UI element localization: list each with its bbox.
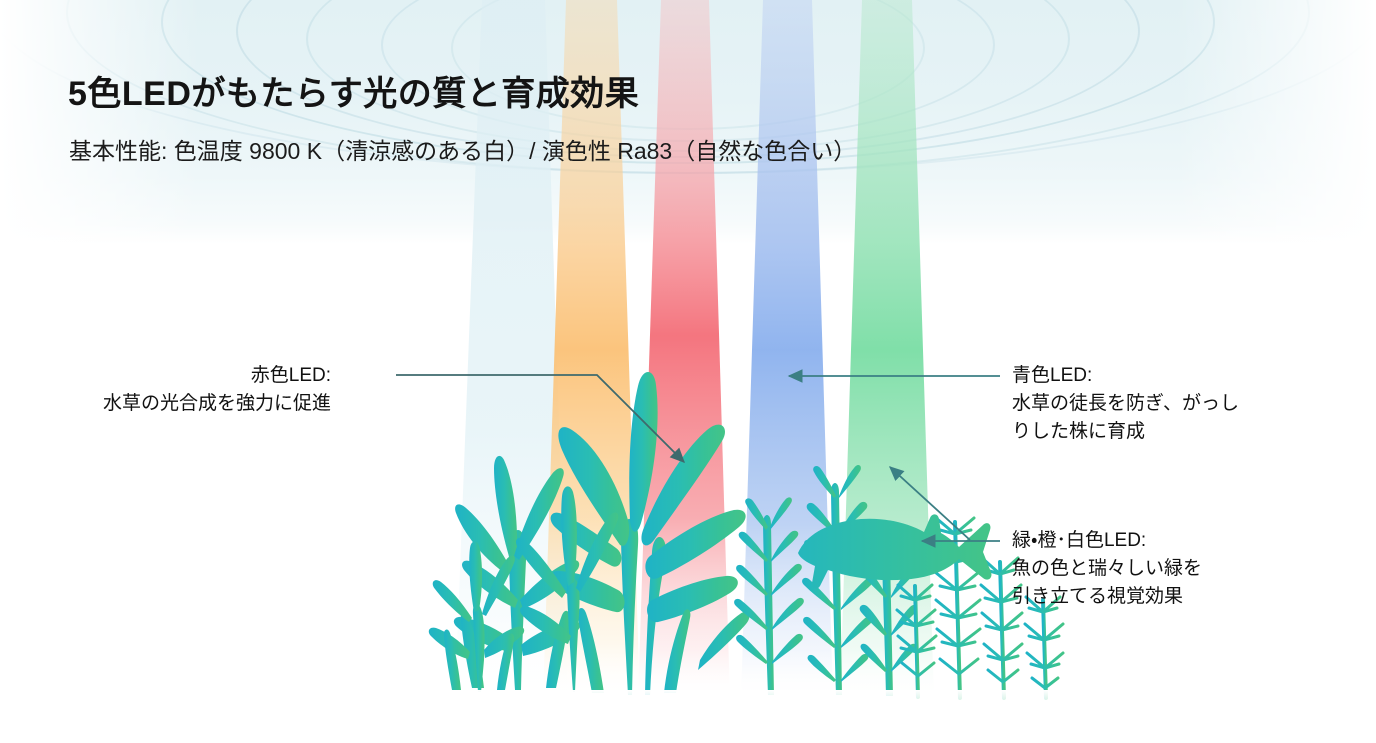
callout-red-led-body: 水草の光合成を強力に促進: [103, 390, 331, 418]
callout-green-orange-white-led: 緑・橙･白色LED: 魚の色と瑞々しい緑を 引き立てる視覚効果: [1012, 527, 1202, 611]
callout-green-led-body-line1: 魚の色と瑞々しい緑を: [1012, 555, 1202, 583]
callout-green-led-heading: 緑・橙･白色LED:: [1012, 527, 1202, 555]
callout-red-led-heading: 赤色LED:: [103, 362, 331, 390]
callout-blue-led-body-line2: りした株に育成: [1012, 418, 1239, 446]
callout-green-led-body-line2: 引き立てる視覚効果: [1012, 583, 1202, 611]
page-subtitle: 基本性能: 色温度 9800 K（清涼感のある白）/ 演色性 Ra83（自然な色…: [69, 132, 856, 166]
leader-line-green-led-diagonal: [890, 467, 970, 540]
callout-red-led: 赤色LED: 水草の光合成を強力に促進: [103, 362, 331, 418]
callout-blue-led: 青色LED: 水草の徒長を防ぎ、がっし りした株に育成: [1012, 362, 1239, 446]
page-title: 5色LEDがもたらす光の質と育成効果: [68, 66, 639, 115]
slide-canvas: 5色LEDがもたらす光の質と育成効果 基本性能: 色温度 9800 K（清涼感の…: [0, 0, 1376, 743]
callout-blue-led-body-line1: 水草の徒長を防ぎ、がっし: [1012, 390, 1239, 418]
callout-blue-led-heading: 青色LED:: [1012, 362, 1239, 390]
leader-line-red-led: [396, 375, 684, 462]
